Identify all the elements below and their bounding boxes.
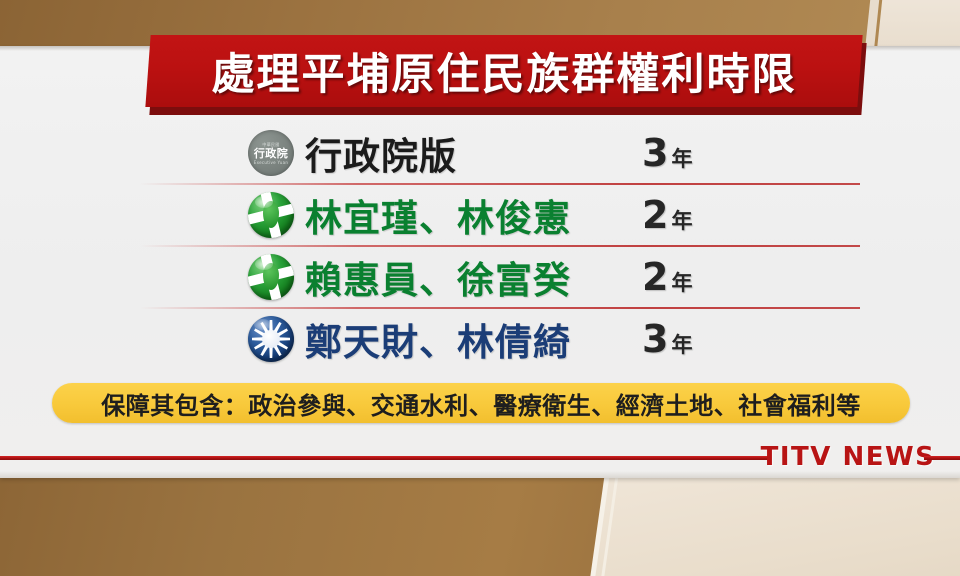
- duration-number: 2: [642, 193, 668, 237]
- executive-logo-top-text: 中華民國: [262, 142, 279, 147]
- dpp-party-logo-icon: [248, 192, 294, 238]
- proposal-name: 林宜瑾、林俊憲: [305, 188, 571, 242]
- proposal-name: 鄭天財、林倩綺: [305, 312, 571, 366]
- proposal-name: 賴惠員、徐富癸: [305, 250, 571, 304]
- duration-number: 3: [642, 131, 668, 175]
- scope-note-banner: 保障其包含：政治參與、交通水利、醫療衛生、經濟土地、社會福利等: [52, 383, 910, 423]
- table-row: 中華民國 行政院 Executive Yuan 行政院版 3 年: [0, 122, 960, 184]
- background-bottom-cream-panel: [592, 476, 960, 576]
- duration-unit: 年: [671, 205, 692, 235]
- kmt-party-logo-icon: [248, 316, 294, 362]
- proposals-table: 中華民國 行政院 Executive Yuan 行政院版 3 年 林宜瑾、林俊憲: [0, 122, 960, 370]
- proposal-name: 行政院版: [305, 126, 457, 180]
- table-row: 賴惠員、徐富癸 2 年: [0, 246, 960, 308]
- kmt-highlight: [254, 319, 271, 330]
- proposal-duration: 3 年: [642, 317, 692, 361]
- page-title: 處理平埔原住民族群權利時限: [148, 35, 860, 107]
- dpp-party-logo-icon: [248, 254, 294, 300]
- duration-unit: 年: [671, 143, 692, 173]
- background-bottom-brown-panel: [0, 476, 648, 576]
- background-top-cream-panel: [877, 0, 960, 52]
- proposal-duration: 3 年: [642, 131, 692, 175]
- footer-rule-left: [0, 456, 770, 460]
- broadcast-graphic: 處理平埔原住民族群權利時限 中華民國 行政院 Executive Yuan 行政…: [0, 0, 960, 576]
- kmt-sun-center: [262, 330, 280, 348]
- dpp-highlight: [255, 258, 273, 270]
- executive-logo-bottom-text: Executive Yuan: [254, 160, 288, 165]
- channel-logo: TITV NEWS: [780, 441, 916, 473]
- dpp-highlight: [255, 196, 273, 208]
- table-row: 鄭天財、林倩綺 3 年: [0, 308, 960, 370]
- executive-logo-main-text: 行政院: [254, 147, 288, 160]
- table-row: 林宜瑾、林俊憲 2 年: [0, 184, 960, 246]
- proposal-duration: 2 年: [642, 255, 692, 299]
- duration-unit: 年: [671, 329, 692, 359]
- footer-rule-right: [924, 456, 960, 460]
- proposal-duration: 2 年: [642, 193, 692, 237]
- executive-yuan-logo-icon: 中華民國 行政院 Executive Yuan: [248, 130, 294, 176]
- duration-unit: 年: [671, 267, 692, 297]
- duration-number: 3: [642, 317, 668, 361]
- duration-number: 2: [642, 255, 668, 299]
- title-banner: 處理平埔原住民族群權利時限: [148, 35, 860, 107]
